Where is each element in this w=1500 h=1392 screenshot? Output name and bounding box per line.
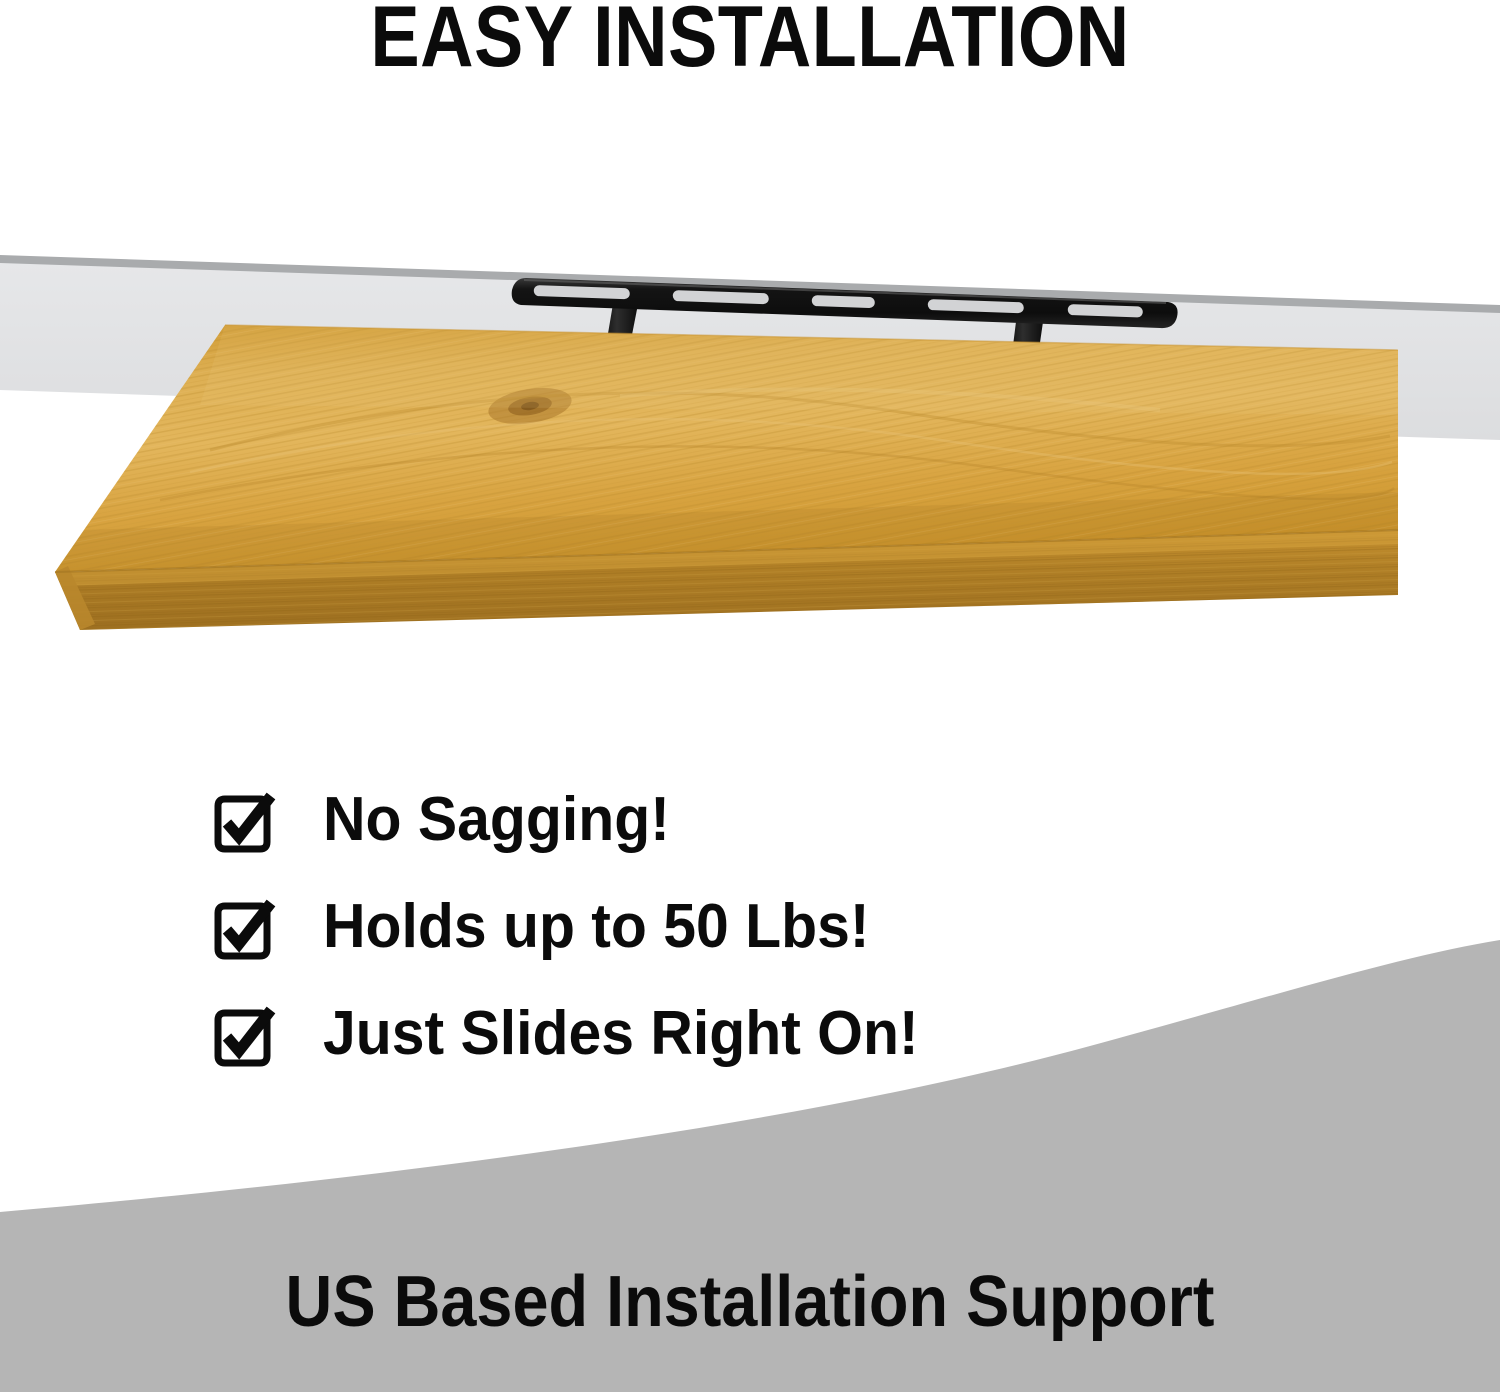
checkbox-checked-icon [205,790,279,860]
page-title: EASY INSTALLATION [105,0,1395,80]
feature-label: No Sagging! [323,782,670,858]
shelf-illustration [0,200,1500,780]
footer-text: US Based Installation Support [75,1262,1425,1342]
marketing-infographic: EASY INSTALLATION [0,0,1500,1392]
feature-item-no-sagging: No Sagging! [205,782,1105,889]
product-photo [0,200,1500,780]
